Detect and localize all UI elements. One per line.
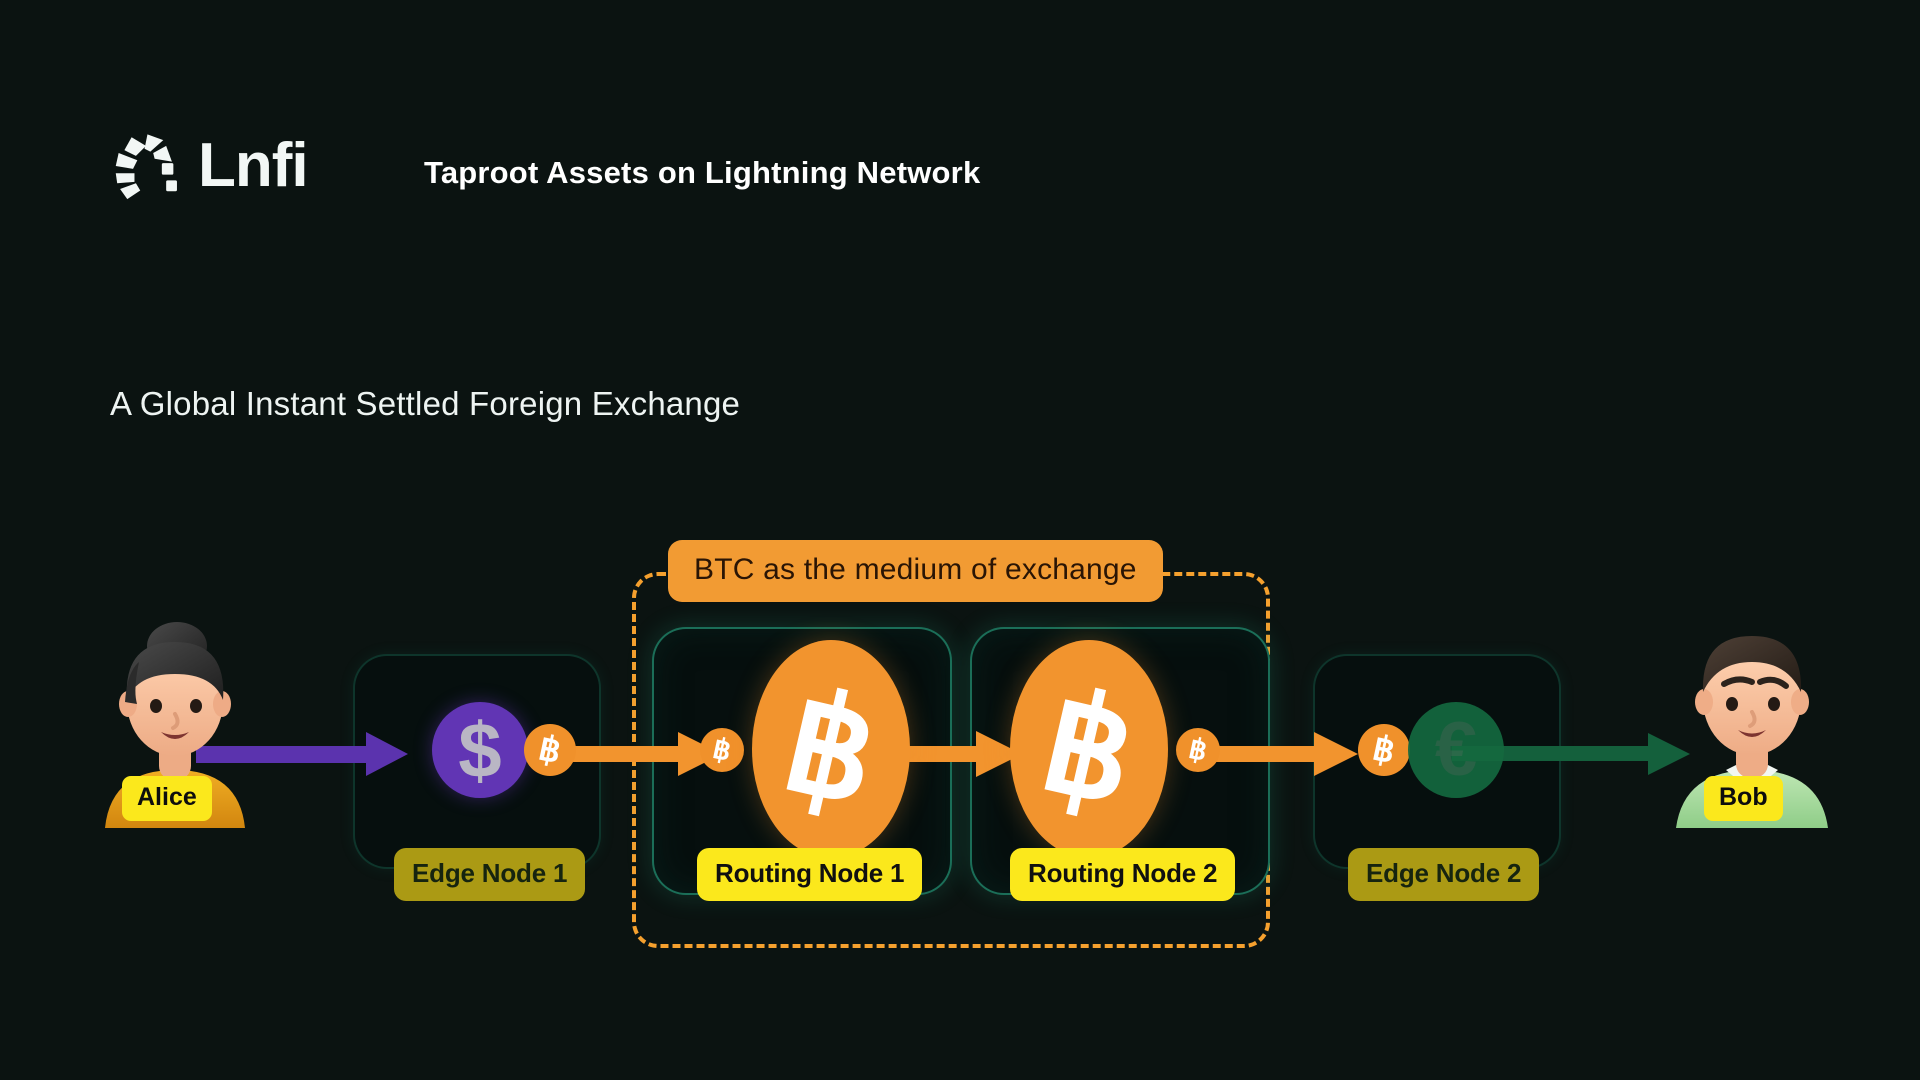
btc-coin-routing2[interactable]: ฿ bbox=[1010, 640, 1168, 858]
btc-medium-label: BTC as the medium of exchange bbox=[668, 540, 1163, 602]
page-title: Taproot Assets on Lightning Network bbox=[424, 155, 980, 191]
usd-coin[interactable]: $ bbox=[432, 702, 528, 798]
person-label-alice[interactable]: Alice bbox=[122, 776, 212, 821]
btc-coin-routing1-in[interactable]: ฿ bbox=[700, 728, 744, 772]
brand-header: Lnfi bbox=[110, 130, 308, 202]
slide-canvas: Lnfi Taproot Assets on Lightning Network… bbox=[0, 0, 1920, 1080]
node-label-edge-1[interactable]: Edge Node 1 bbox=[394, 848, 585, 901]
node-label-routing-2[interactable]: Routing Node 2 bbox=[1010, 848, 1235, 901]
node-label-routing-1[interactable]: Routing Node 1 bbox=[697, 848, 922, 901]
btc-symbol-large: ฿ bbox=[1031, 672, 1148, 826]
usd-symbol: $ bbox=[458, 711, 501, 789]
btc-symbol-large: ฿ bbox=[773, 672, 890, 826]
node-label-edge-2[interactable]: Edge Node 2 bbox=[1348, 848, 1539, 901]
btc-symbol: ฿ bbox=[536, 731, 564, 769]
btc-symbol: ฿ bbox=[1370, 731, 1398, 769]
person-label-bob[interactable]: Bob bbox=[1704, 776, 1783, 821]
brand-wordmark: Lnfi bbox=[198, 135, 308, 197]
btc-coin-edge2[interactable]: ฿ bbox=[1358, 724, 1410, 776]
btc-coin-routing1[interactable]: ฿ bbox=[752, 640, 910, 858]
btc-symbol: ฿ bbox=[710, 734, 733, 765]
eur-coin[interactable]: € bbox=[1408, 702, 1504, 798]
btc-coin-edge1[interactable]: ฿ bbox=[524, 724, 576, 776]
starburst-icon bbox=[110, 130, 182, 202]
eur-symbol: € bbox=[1435, 712, 1477, 788]
btc-coin-routing2-out[interactable]: ฿ bbox=[1176, 728, 1220, 772]
btc-symbol: ฿ bbox=[1186, 734, 1209, 765]
page-subtitle: A Global Instant Settled Foreign Exchang… bbox=[110, 385, 740, 423]
